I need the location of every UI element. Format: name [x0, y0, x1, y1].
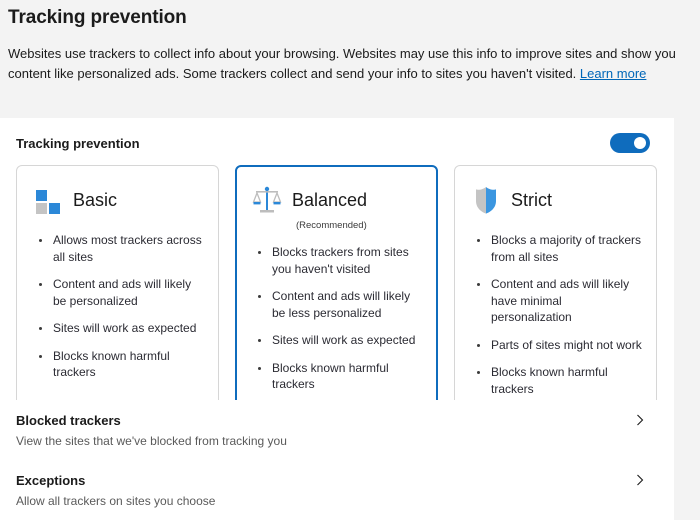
blocked-trackers-title: Blocked trackers	[16, 412, 658, 430]
level-name-strict: Strict	[511, 189, 552, 211]
level-bullets-strict: Blocks a majority of trackers from all s…	[467, 232, 644, 397]
tracking-prevention-toggle-row: Tracking prevention	[0, 118, 674, 159]
chevron-right-icon	[634, 474, 646, 486]
shield-icon	[471, 184, 501, 216]
tracking-prevention-card: Tracking prevention Basic Allows most tr…	[0, 118, 674, 407]
blocked-trackers-row[interactable]: Blocked trackers View the sites that we'…	[0, 400, 674, 460]
list-item: Sites will work as expected	[254, 332, 425, 349]
toggle-knob	[634, 137, 646, 149]
chevron-right-icon	[634, 414, 646, 426]
level-card-strict[interactable]: Strict Blocks a majority of trackers fro…	[454, 165, 657, 407]
tracking-prevention-label: Tracking prevention	[16, 136, 140, 151]
blocked-trackers-subtitle: View the sites that we've blocked from t…	[16, 433, 658, 450]
list-item: Blocks a majority of trackers from all s…	[473, 232, 644, 265]
level-subtitle-balanced: (Recommended)	[296, 220, 425, 232]
page-title: Tracking prevention	[8, 6, 688, 30]
exceptions-subtitle: Allow all trackers on sites you choose	[16, 493, 658, 510]
level-name-balanced: Balanced	[292, 189, 367, 211]
page-description-text: Websites use trackers to collect info ab…	[8, 46, 676, 81]
level-name-basic: Basic	[73, 189, 117, 211]
balance-scale-icon	[252, 184, 282, 216]
level-header-strict: Strict	[467, 178, 644, 222]
list-item: Blocks known harmful trackers	[473, 364, 644, 397]
list-item: Content and ads will likely be less pers…	[254, 288, 425, 321]
list-item: Sites will work as expected	[35, 320, 206, 337]
list-item: Blocks known harmful trackers	[254, 360, 425, 393]
level-card-balanced[interactable]: Balanced (Recommended) Blocks trackers f…	[235, 165, 438, 407]
exceptions-title: Exceptions	[16, 472, 658, 490]
level-card-basic[interactable]: Basic Allows most trackers across all si…	[16, 165, 219, 407]
learn-more-link[interactable]: Learn more	[580, 66, 646, 81]
page-header: Tracking prevention Websites use tracker…	[0, 0, 700, 83]
list-item: Parts of sites might not work	[473, 337, 644, 354]
tracking-prevention-toggle[interactable]	[610, 133, 650, 153]
level-header-basic: Basic	[29, 178, 206, 222]
list-item: Content and ads will likely be personali…	[35, 276, 206, 309]
list-item: Blocks known harmful trackers	[35, 348, 206, 381]
level-header-balanced: Balanced	[248, 178, 425, 222]
level-bullets-balanced: Blocks trackers from sites you haven't v…	[248, 244, 425, 393]
list-item: Allows most trackers across all sites	[35, 232, 206, 265]
squares-icon	[33, 184, 63, 216]
level-bullets-basic: Allows most trackers across all sites Co…	[29, 232, 206, 381]
page-description: Websites use trackers to collect info ab…	[8, 44, 688, 83]
list-item: Blocks trackers from sites you haven't v…	[254, 244, 425, 277]
list-item: Content and ads will likely have minimal…	[473, 276, 644, 326]
exceptions-row[interactable]: Exceptions Allow all trackers on sites y…	[0, 460, 674, 520]
protection-levels: Basic Allows most trackers across all si…	[0, 159, 674, 407]
settings-link-rows: Blocked trackers View the sites that we'…	[0, 400, 674, 520]
